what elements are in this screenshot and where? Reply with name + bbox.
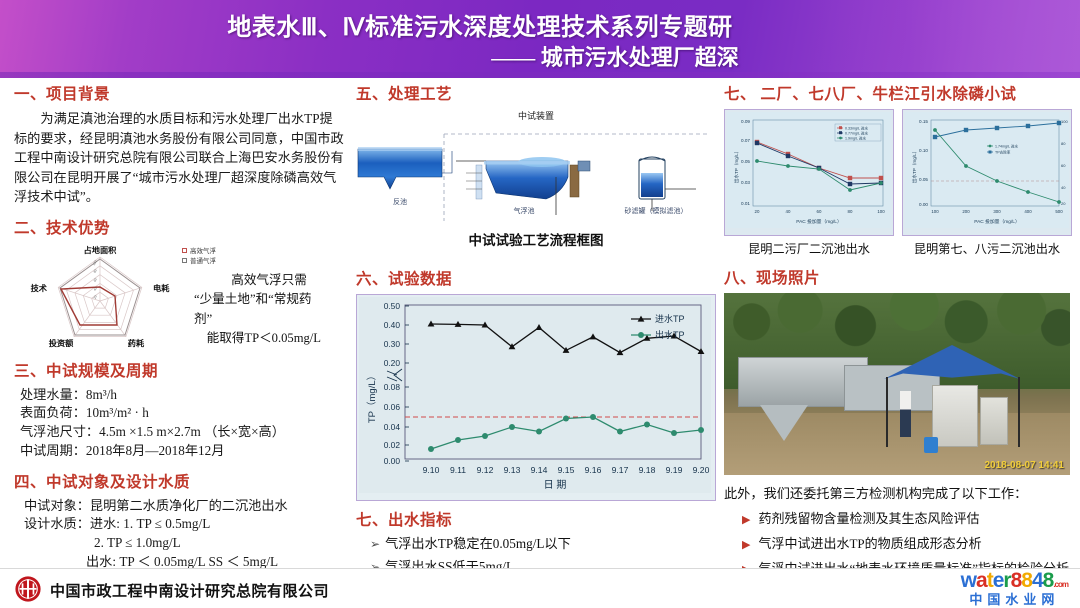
svg-text:0.00: 0.00 xyxy=(384,456,401,466)
svg-text:9.16: 9.16 xyxy=(585,465,602,475)
experiment-data-line-chart: 0.50 0.40 0.30 0.20 0.08 0.06 0.04 0.02 … xyxy=(359,297,711,493)
watermark-com: .com xyxy=(1053,580,1068,589)
svg-text:0.08: 0.08 xyxy=(384,382,401,392)
radar-axis-label-4: 技术 xyxy=(31,283,48,293)
section-2-note-line4: 能取得TP＜0.05mg/L xyxy=(194,329,344,349)
jar-right-legend-1: TP去除率 xyxy=(995,150,1011,155)
third-party-item-1: ▶气浮中试进出水TP的物质组成形态分析 xyxy=(742,533,1072,552)
section-2-heading: 二、技术优势 xyxy=(14,216,344,238)
section-7b-bullet-0: ➢气浮出水TP稳定在0.05mg/L以下 xyxy=(370,535,716,553)
header-gradient-overlay xyxy=(810,0,1080,78)
svg-text:100: 100 xyxy=(92,259,98,266)
section-1-heading: 一、项目背景 xyxy=(14,82,344,104)
jar-right-y-title: 出水TP（mg/L） xyxy=(911,149,918,183)
svg-text:60: 60 xyxy=(817,209,822,214)
svg-text:0.07: 0.07 xyxy=(741,138,750,143)
svg-text:0.50: 0.50 xyxy=(384,301,401,311)
watermark-bottom: 中国水业网 xyxy=(961,593,1068,606)
legend-swatch-gaoxiao xyxy=(182,248,187,253)
section-4-heading: 四、中试对象及设计水质 xyxy=(14,470,344,492)
section-2-note-line1: 高效气浮只需 xyxy=(194,271,344,291)
svg-text:9.15: 9.15 xyxy=(558,465,575,475)
svg-text:0.01: 0.01 xyxy=(741,201,750,206)
svg-text:0.09: 0.09 xyxy=(741,119,750,124)
radar-chart-area: 100 80 60 40 20 占地面积 电耗 药耗 投资额 技术 高效气浮 普… xyxy=(14,243,344,355)
svg-text:9.17: 9.17 xyxy=(612,465,629,475)
jar-left-legend-0: 0.33mg/L 进水 xyxy=(845,126,868,131)
photo-blue-drum xyxy=(924,437,938,453)
svg-text:80: 80 xyxy=(1061,141,1066,146)
jar-test-chart-right-caption: 昆明第七、八污二沉池出水 xyxy=(902,239,1072,257)
svg-text:400: 400 xyxy=(1024,209,1032,214)
section-4-row-2: 2. TP ≤ 1.0mg/L xyxy=(94,534,344,553)
section-2-note-line3: 剂” xyxy=(194,310,344,330)
process-unit-label-0: 反池 xyxy=(393,197,407,206)
right-column: 七、 二厂、七八厂、牛栏江引水除磷小试 0.09 0.07 0.05 0.03 … xyxy=(724,82,1072,577)
radar-axis-label-2: 药耗 xyxy=(128,338,145,348)
svg-text:20: 20 xyxy=(755,209,760,214)
section-3-heading: 三、中试规模及周期 xyxy=(14,359,344,381)
jar-test-chart-right-wrap: 0.15 0.10 0.05 0.00 100 80 60 40 20 出 xyxy=(902,109,1072,257)
technical-advantage-radar-chart: 100 80 60 40 20 占地面积 电耗 药耗 投资额 技术 xyxy=(14,243,192,355)
jar-left-legend-2: 1.9mg/L 进水 xyxy=(845,136,866,141)
section-2-note-line2: “少量土地”和“常规药 xyxy=(194,290,344,310)
third-party-intro: 此外，我们还委托第三方检测机构完成了以下工作： xyxy=(724,483,1072,502)
svg-text:9.18: 9.18 xyxy=(639,465,656,475)
photo-person xyxy=(900,391,911,437)
jar-right-x-title: PAC 投加量（mg/L） xyxy=(974,218,1020,225)
svg-text:0.15: 0.15 xyxy=(919,119,928,124)
chart-x-tick-labels: 9.10 9.11 9.12 9.13 9.14 9.15 9.16 9.17 … xyxy=(423,465,710,475)
section-4-list: 中试对象：昆明第二水质净化厂的二沉池出水 设计水质：进水: 1. TP ≤ 0.… xyxy=(24,497,344,572)
svg-text:0.03: 0.03 xyxy=(741,180,750,185)
jar-left-y-title: 出水TP（mg/L） xyxy=(733,149,740,183)
section-7a-heading: 七、 二厂、七八厂、牛栏江引水除磷小试 xyxy=(724,82,1072,104)
experiment-data-chart-card: 0.50 0.40 0.30 0.20 0.08 0.06 0.04 0.02 … xyxy=(356,294,716,501)
radar-axis-label-0: 占地面积 xyxy=(84,245,118,255)
svg-text:0.06: 0.06 xyxy=(384,402,401,412)
legend-swatch-putong xyxy=(182,258,187,263)
watermark: water8848.com 中国水业网 xyxy=(961,570,1068,606)
site-photo: 2018-08-07 14:41 xyxy=(724,293,1070,475)
section-6-heading: 六、试验数据 xyxy=(356,267,716,289)
svg-text:9.20: 9.20 xyxy=(693,465,710,475)
svg-text:0.40: 0.40 xyxy=(384,320,401,330)
jar-right-legend-0: 1.74mg/L 进水 xyxy=(995,144,1018,149)
section-4-row-0: 中试对象：昆明第二水质净化厂的二沉池出水 xyxy=(24,497,344,516)
photo-timestamp: 2018-08-07 14:41 xyxy=(984,460,1064,471)
left-column: 一、项目背景 为满足滇池治理的水质目标和污水处理厂出水TP提标的要求，经昆明滇池… xyxy=(14,82,344,572)
slide-root: 地表水Ⅲ、Ⅳ标准污水深度处理技术系列专题研 —— 城市污水处理厂超深 一、项目背… xyxy=(0,0,1080,608)
svg-text:0.30: 0.30 xyxy=(384,339,401,349)
svg-text:80: 80 xyxy=(848,209,853,214)
section-1-paragraph: 为满足滇池治理的水质目标和污水处理厂出水TP提标的要求，经昆明滇池水务股份有限公… xyxy=(14,109,344,207)
triangle-bullet-icon: ▶ xyxy=(742,539,750,551)
jar-left-legend-1: 0.77mg/L 进水 xyxy=(845,131,868,136)
company-logo-icon xyxy=(14,575,42,603)
section-3-row-2: 气浮池尺寸：4.5m ×1.5 m×2.7m （长×宽×高） xyxy=(20,423,344,442)
process-diagram-caption: 中试试验工艺流程框图 xyxy=(356,229,716,249)
slide-header: 地表水Ⅲ、Ⅳ标准污水深度处理技术系列专题研 —— 城市污水处理厂超深 xyxy=(0,0,1080,78)
jar-test-charts-row: 0.09 0.07 0.05 0.03 0.01 出水TP（mg/L） xyxy=(724,109,1072,257)
section-7b-heading: 七、出水指标 xyxy=(356,508,716,530)
svg-text:0.05: 0.05 xyxy=(741,159,750,164)
triangle-bullet-icon: ▶ xyxy=(742,514,750,526)
section-3-row-3: 中试周期：2018年8月—2018年12月 xyxy=(20,442,344,461)
jar-left-legend: 0.33mg/L 进水 0.77mg/L 进水 1.9mg/L 进水 xyxy=(835,124,881,141)
svg-text:0.10: 0.10 xyxy=(919,148,928,153)
jar-test-chart-left-card: 0.09 0.07 0.05 0.03 0.01 出水TP（mg/L） xyxy=(724,109,894,236)
jar-left-x-title: PAC 投加量（mg/L） xyxy=(796,218,842,225)
footer-company-name: 中国市政工程中南设计研究总院有限公司 xyxy=(50,580,329,601)
svg-text:20: 20 xyxy=(93,294,98,299)
svg-text:9.11: 9.11 xyxy=(450,465,466,475)
svg-text:0.20: 0.20 xyxy=(384,358,401,368)
jar-test-chart-right-card: 0.15 0.10 0.05 0.00 100 80 60 40 20 出 xyxy=(902,109,1072,236)
section-3-row-0: 处理水量：8m³/h xyxy=(20,386,344,405)
section-3-row-1: 表面负荷：10m³/m² · h xyxy=(20,404,344,423)
section-2-note: 高效气浮只需 “少量土地”和“常规药 剂” 能取得TP＜0.05mg/L xyxy=(194,271,344,349)
third-party-item-0: ▶药剂残留物含量检测及其生态风险评估 xyxy=(742,508,1072,527)
svg-text:40: 40 xyxy=(786,209,791,214)
svg-text:0.00: 0.00 xyxy=(919,202,928,207)
jar-test-chart-right: 0.15 0.10 0.05 0.00 100 80 60 40 20 出 xyxy=(905,112,1069,228)
chart-legend-label-1: 出水TP xyxy=(655,329,685,340)
photo-control-cabinet xyxy=(932,385,978,447)
svg-text:9.19: 9.19 xyxy=(666,465,683,475)
radar-axis-label-1: 电耗 xyxy=(153,283,170,293)
section-5-heading: 五、处理工艺 xyxy=(356,82,716,104)
chart-x-axis-title: 日 期 xyxy=(544,479,567,491)
svg-text:100: 100 xyxy=(877,209,885,214)
process-unit-label-2: 砂滤罐（模拟滤池） xyxy=(625,206,688,215)
svg-text:0.04: 0.04 xyxy=(384,422,401,432)
svg-text:9.10: 9.10 xyxy=(423,465,440,475)
photo-canopy-pole-right xyxy=(1018,377,1020,447)
svg-text:60: 60 xyxy=(93,277,98,282)
third-party-items: ▶药剂残留物含量检测及其生态风险评估 ▶气浮中试进出水TP的物质组成形态分析 ▶… xyxy=(724,508,1072,577)
slide-footer: 中国市政工程中南设计研究总院有限公司 water8848.com 中国水业网 xyxy=(0,568,1080,608)
radar-legend-item-1: 普通气浮 xyxy=(190,258,216,265)
chart-y-axis-title: TP（mg/L） xyxy=(366,371,378,423)
svg-text:40: 40 xyxy=(1061,185,1066,190)
section-4-row-1: 设计水质：进水: 1. TP ≤ 0.5mg/L xyxy=(24,515,344,534)
svg-text:20: 20 xyxy=(1061,201,1066,206)
jar-test-chart-left: 0.09 0.07 0.05 0.03 0.01 出水TP（mg/L） xyxy=(727,112,891,228)
jar-test-chart-left-caption: 昆明二污厂二沉池出水 xyxy=(724,239,894,257)
process-diagram: 中试装置 反池 xyxy=(356,109,716,259)
svg-text:0.02: 0.02 xyxy=(384,440,401,450)
watermark-top: water8848.com xyxy=(961,570,1068,591)
svg-text:9.14: 9.14 xyxy=(531,465,548,475)
photo-hopper xyxy=(760,405,808,441)
svg-text:9.12: 9.12 xyxy=(477,465,494,475)
photo-control-cabinet-2 xyxy=(980,397,1008,445)
middle-column: 五、处理工艺 中试装置 xyxy=(356,82,716,598)
section-8-heading: 八、现场照片 xyxy=(724,266,1072,288)
chart-legend-label-0: 进水TP xyxy=(655,313,685,324)
svg-text:80: 80 xyxy=(93,268,98,273)
process-unit-label-1: 气浮池 xyxy=(514,206,535,215)
radar-legend-item-0: 高效气浮 xyxy=(190,248,216,255)
svg-text:0.05: 0.05 xyxy=(919,177,928,182)
arrow-bullet-icon: ➢ xyxy=(370,537,380,551)
svg-text:100: 100 xyxy=(931,209,939,214)
svg-text:60: 60 xyxy=(1061,163,1066,168)
photo-canopy-pole-left xyxy=(886,377,888,447)
radar-legend: 高效气浮 普通气浮 xyxy=(182,247,216,267)
svg-text:200: 200 xyxy=(962,209,970,214)
svg-text:300: 300 xyxy=(993,209,1001,214)
radar-axis-label-3: 投资额 xyxy=(49,338,74,348)
section-3-list: 处理水量：8m³/h 表面负荷：10m³/m² · h 气浮池尺寸：4.5m ×… xyxy=(20,386,344,461)
svg-text:9.13: 9.13 xyxy=(504,465,521,475)
jar-test-chart-left-wrap: 0.09 0.07 0.05 0.03 0.01 出水TP（mg/L） xyxy=(724,109,894,257)
svg-text:500: 500 xyxy=(1055,209,1063,214)
svg-text:100: 100 xyxy=(1061,119,1068,124)
